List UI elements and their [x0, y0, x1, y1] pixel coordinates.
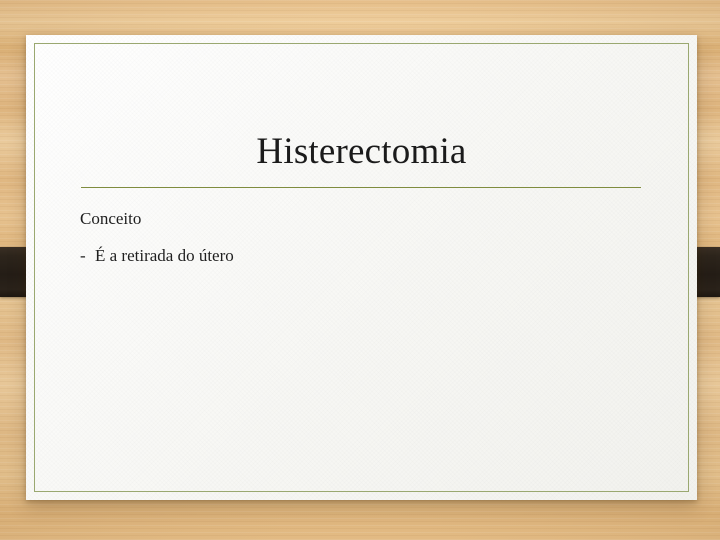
slide-body-block: Conceito - É a retirada do útero: [80, 209, 657, 267]
slide-inner-border: [34, 43, 689, 492]
bullet-list: - É a retirada do útero: [80, 245, 657, 266]
dash-bullet-icon: -: [80, 245, 95, 266]
concept-heading: Conceito: [80, 209, 657, 229]
list-item-text: É a retirada do útero: [95, 245, 657, 266]
slide-stage: Histerectomia Conceito - É a retirada do…: [0, 0, 720, 540]
page-title: Histerectomia: [256, 133, 466, 170]
slide-paper-card: Histerectomia Conceito - É a retirada do…: [26, 35, 697, 500]
slide-title-block: Histerectomia: [26, 133, 697, 170]
title-divider-rule: [81, 187, 641, 188]
list-item: - É a retirada do útero: [80, 245, 657, 266]
